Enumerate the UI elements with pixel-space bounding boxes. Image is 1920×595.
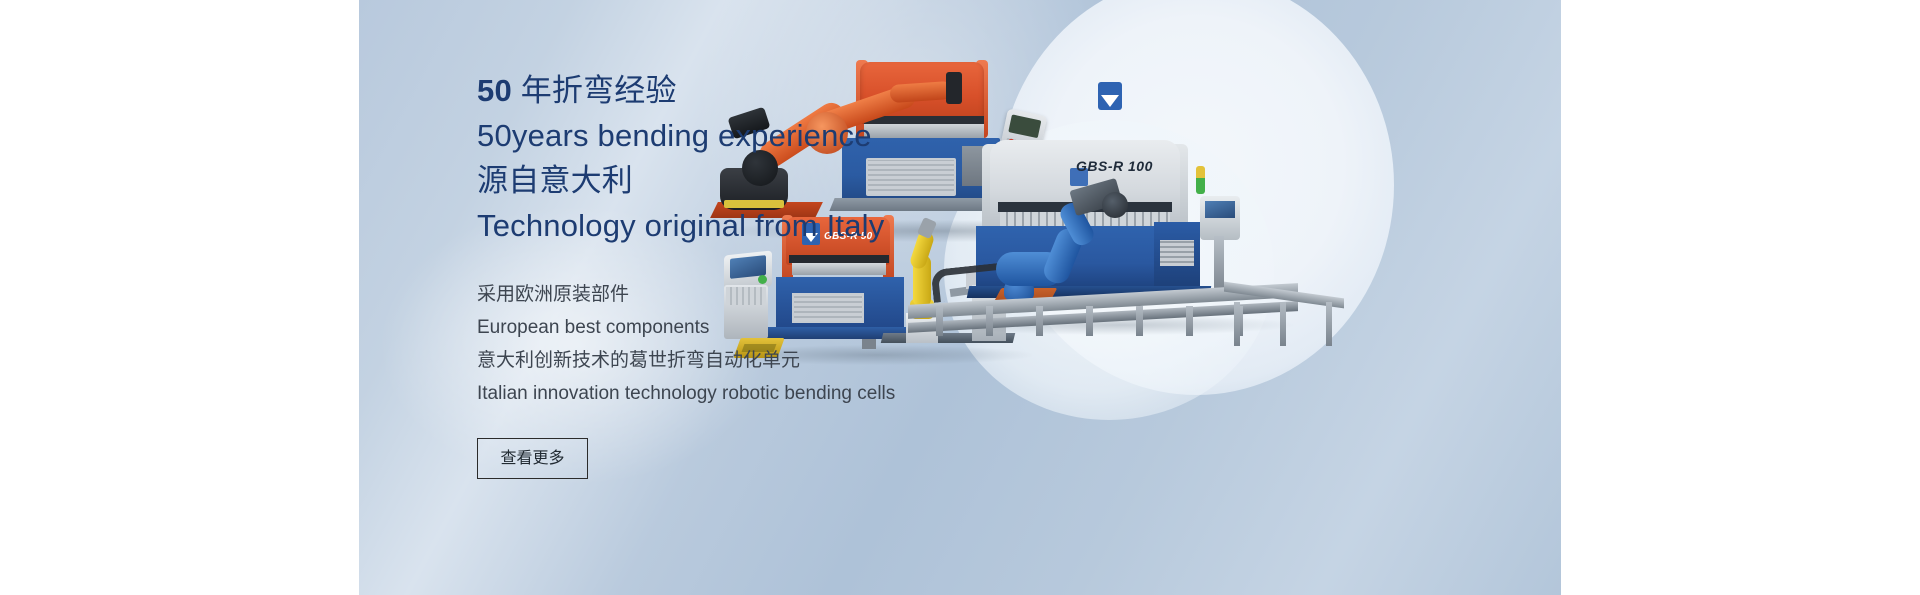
heading-line-1: 50 年折弯经验 xyxy=(477,68,997,113)
heading-line-3: 源自意大利 xyxy=(477,158,997,203)
heading-number: 50 xyxy=(477,73,512,108)
hero-banner: GBS-R 50 xyxy=(359,0,1561,595)
heading-line-4: Technology original from Italy xyxy=(477,203,997,248)
subtext-line-2: European best components xyxy=(477,311,997,344)
subtext-line-4: Italian innovation technology robotic be… xyxy=(477,377,997,410)
heading-line-2: 50years bending experience xyxy=(477,113,997,158)
subtext-line-1: 采用欧洲原装部件 xyxy=(477,278,997,311)
view-more-button[interactable]: 查看更多 xyxy=(477,438,588,479)
subtext-line-3: 意大利创新技术的葛世折弯自动化单元 xyxy=(477,344,997,377)
heading-line-1-text: 年折弯经验 xyxy=(512,73,677,108)
page-root: GBS-R 50 xyxy=(0,0,1920,595)
hero-copy: 50 年折弯经验 50years bending experience 源自意大… xyxy=(477,68,997,479)
hero-subtext: 采用欧洲原装部件 European best components 意大利创新技… xyxy=(477,278,997,410)
